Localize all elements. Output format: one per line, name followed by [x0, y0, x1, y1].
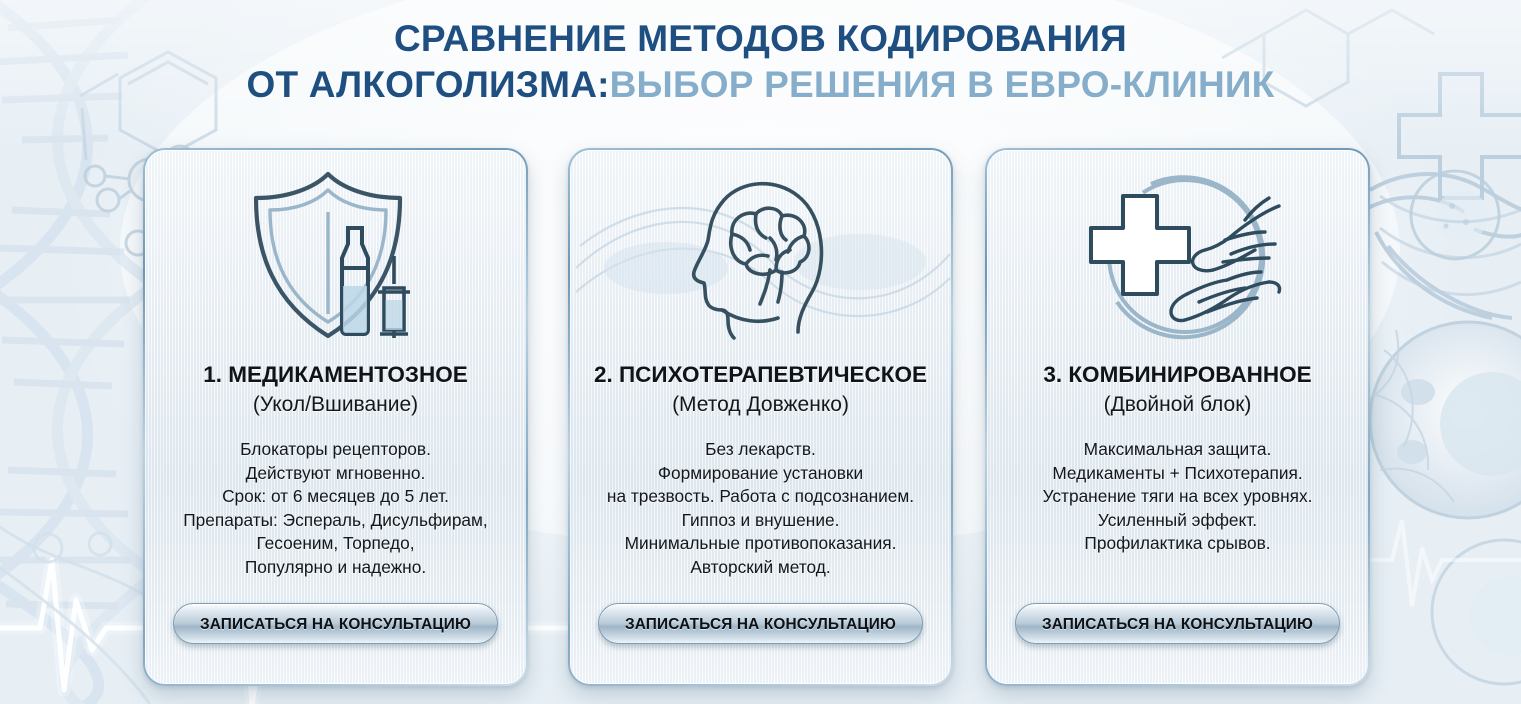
head-brain-icon — [570, 150, 951, 362]
consultation-button[interactable]: ЗАПИСАТЬСЯ НА КОНСУЛЬТАЦИЮ — [173, 603, 498, 644]
cross-helping-hands-icon — [987, 150, 1368, 362]
card-line: Усиленный эффект. — [1043, 509, 1313, 533]
card-line: Авторский метод. — [607, 556, 914, 580]
card-line: Максимальная защита. — [1043, 438, 1313, 462]
card-description: Максимальная защита. Медикаменты + Психо… — [1043, 438, 1313, 556]
card-line: Популярно и надежно. — [183, 556, 487, 580]
card-line: на трезвость. Работа с подсознанием. — [607, 485, 914, 509]
infographic-banner: СРАВНЕНИЕ МЕТОДОВ КОДИРОВАНИЯ ОТ АЛКОГОЛ… — [0, 0, 1521, 704]
card-title: 3. КОМБИНИРОВАННОЕ — [1043, 362, 1311, 388]
card-title: 1. МЕДИКАМЕНТОЗНОЕ — [203, 362, 468, 388]
shield-ampoule-syringe-icon — [145, 150, 526, 362]
card-description: Без лекарств. Формирование установки на … — [607, 438, 914, 580]
card-title: 2. ПСИХОТЕРАПЕВТИЧЕСКОЕ — [594, 362, 927, 388]
card-line: Медикаменты + Психотерапия. — [1043, 462, 1313, 486]
card-line: Гесоеним, Торпедо, — [183, 532, 487, 556]
card-line: Гиппоз и внушение. — [607, 509, 914, 533]
card-line: Срок: от 6 месяцев до 5 лет. — [183, 485, 487, 509]
method-card-combined[interactable]: 3. КОМБИНИРОВАННОЕ (Двойной блок) Максим… — [985, 148, 1370, 686]
page-title: СРАВНЕНИЕ МЕТОДОВ КОДИРОВАНИЯ ОТ АЛКОГОЛ… — [0, 16, 1521, 108]
title-line-2-light: ВЫБОР РЕШЕНИЯ В ЕВРО-КЛИНИК — [610, 64, 1275, 105]
card-line: Устранение тяги на всех уровнях. — [1043, 485, 1313, 509]
card-subtitle: (Метод Довженко) — [672, 391, 849, 418]
card-line: Минимальные противопоказания. — [607, 532, 914, 556]
title-line-2: ОТ АЛКОГОЛИЗМА:ВЫБОР РЕШЕНИЯ В ЕВРО-КЛИН… — [0, 62, 1521, 108]
card-line: Действуют мгновенно. — [183, 462, 487, 486]
card-line: Профилактика срывов. — [1043, 532, 1313, 556]
consultation-button[interactable]: ЗАПИСАТЬСЯ НА КОНСУЛЬТАЦИЮ — [1015, 603, 1340, 644]
card-line: Формирование установки — [607, 462, 914, 486]
card-line: Без лекарств. — [607, 438, 914, 462]
card-line: Блокаторы рецепторов. — [183, 438, 487, 462]
method-card-psychotherapy[interactable]: 2. ПСИХОТЕРАПЕВТИЧЕСКОЕ (Метод Довженко)… — [568, 148, 953, 686]
cards-row: 1. МЕДИКАМЕНТОЗНОЕ (Укол/Вшивание) Блока… — [0, 148, 1521, 688]
title-line-1: СРАВНЕНИЕ МЕТОДОВ КОДИРОВАНИЯ — [0, 16, 1521, 62]
card-line: Препараты: Эспераль, Дисульфирам, — [183, 509, 487, 533]
method-card-medication[interactable]: 1. МЕДИКАМЕНТОЗНОЕ (Укол/Вшивание) Блока… — [143, 148, 528, 686]
consultation-button[interactable]: ЗАПИСАТЬСЯ НА КОНСУЛЬТАЦИЮ — [598, 603, 923, 644]
card-description: Блокаторы рецепторов. Действуют мгновенн… — [183, 438, 487, 580]
card-subtitle: (Двойной блок) — [1104, 391, 1252, 418]
title-line-2-dark: ОТ АЛКОГОЛИЗМА: — [247, 64, 610, 105]
card-subtitle: (Укол/Вшивание) — [253, 391, 418, 418]
